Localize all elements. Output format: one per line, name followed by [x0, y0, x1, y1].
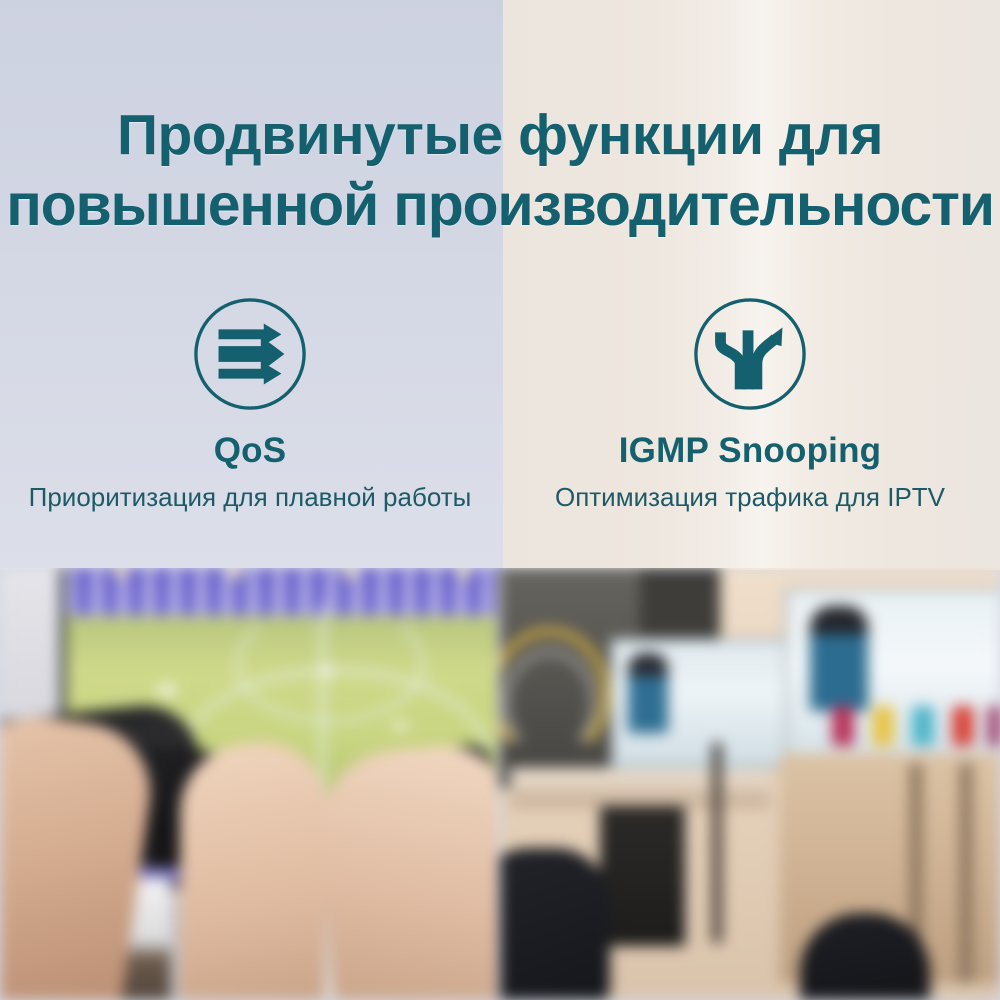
page-title-line-2: повышенной производительности	[0, 170, 1000, 240]
iptv-store-photo	[500, 568, 1000, 1000]
feature-qos-subtitle: Приоритизация для плавной работы	[29, 481, 472, 513]
feature-igmp-subtitle: Оптимизация трафика для IPTV	[555, 481, 945, 513]
feature-list: QoS Приоритизация для плавной работы IGM…	[0, 295, 1000, 560]
page-title-line-1: Продвинутые функции для	[0, 100, 1000, 170]
photo-band	[0, 568, 1000, 1000]
feature-igmp-snooping: IGMP Snooping Оптимизация трафика для IP…	[500, 295, 1000, 560]
gaming-photo	[0, 568, 500, 1000]
promo-banner: Продвинутые функции для повышенной произ…	[0, 0, 1000, 1000]
page-title: Продвинутые функции для повышенной произ…	[0, 100, 1000, 240]
feature-qos: QoS Приоритизация для плавной работы	[0, 295, 500, 560]
feature-qos-title: QoS	[214, 431, 287, 471]
three-arrows-icon	[191, 295, 309, 413]
branching-road-icon	[691, 295, 809, 413]
feature-igmp-title: IGMP Snooping	[619, 431, 882, 471]
